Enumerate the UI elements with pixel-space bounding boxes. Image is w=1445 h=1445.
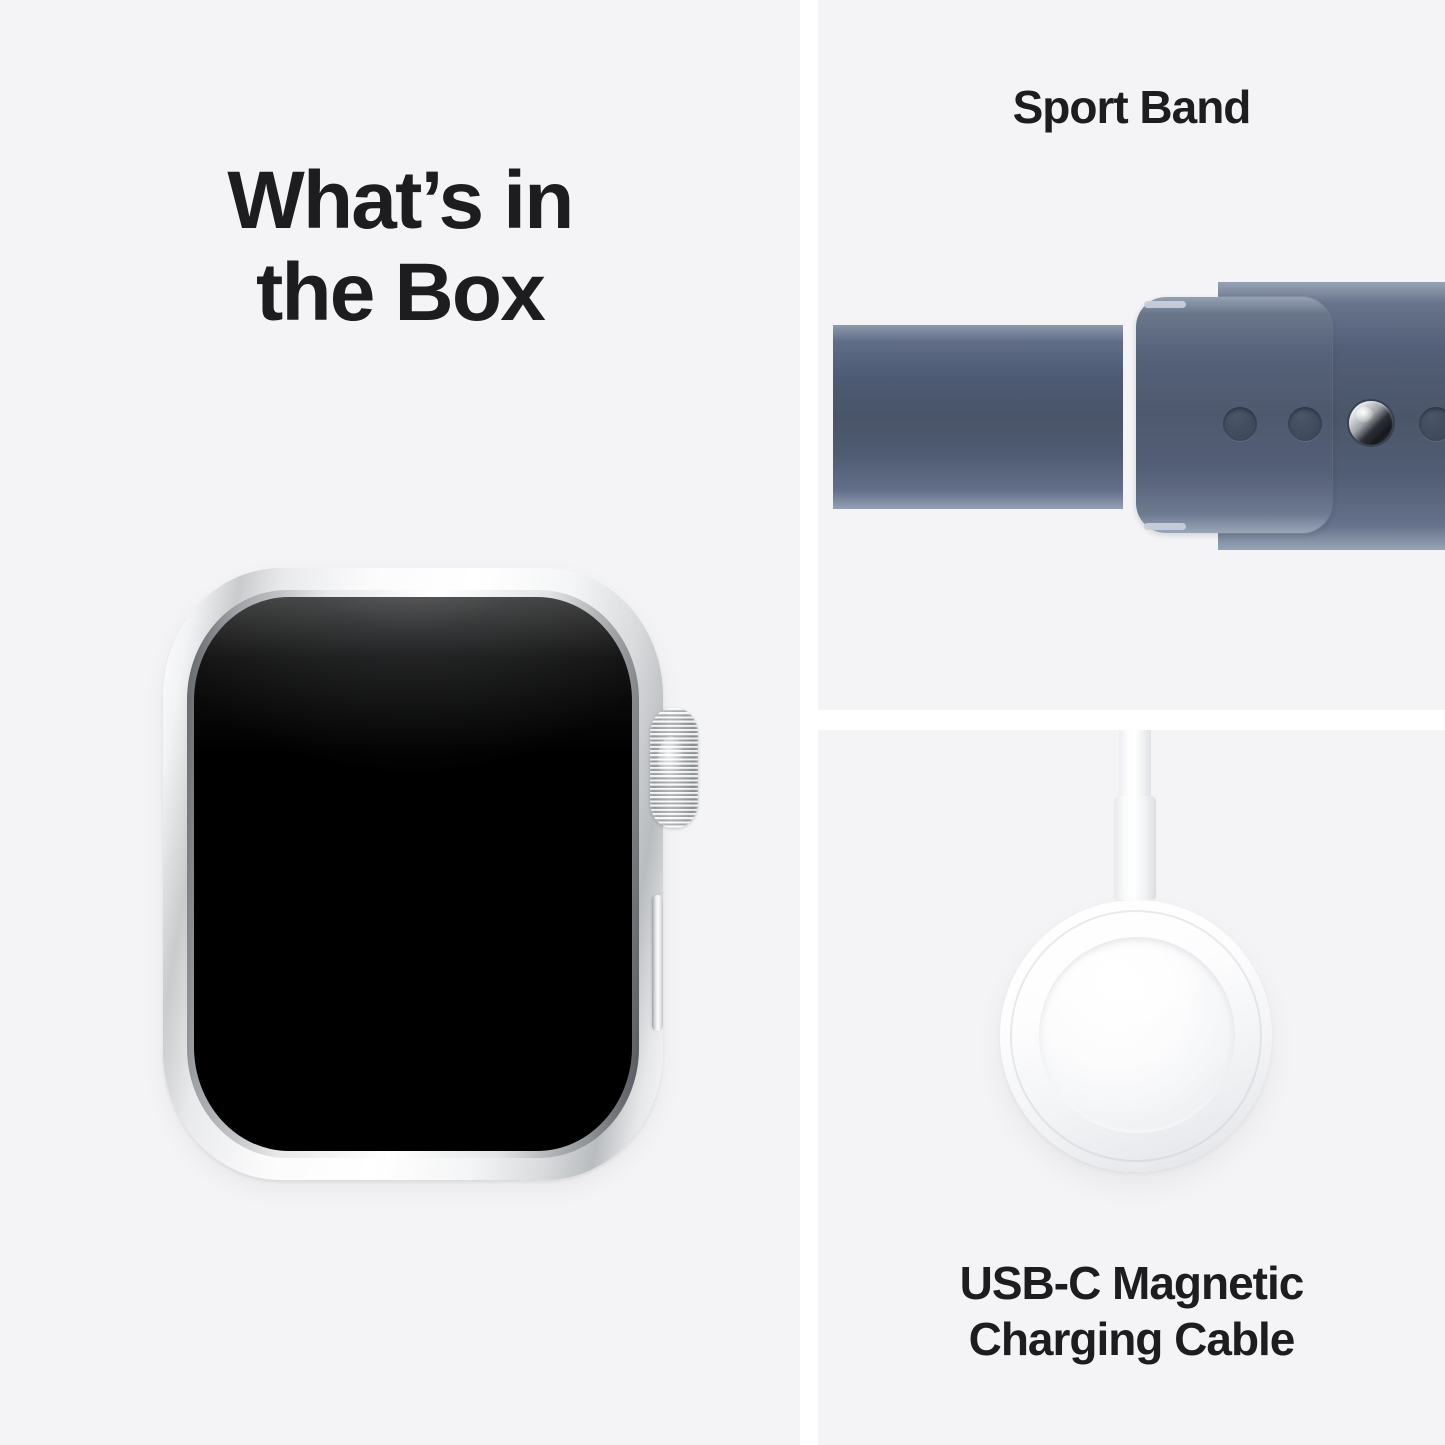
charging-cable-caption-line-1: USB-C Magnetic (818, 1255, 1445, 1311)
panel-whats-in-the-box: What’s in the Box (0, 0, 800, 1445)
band-strap-left (833, 325, 1123, 509)
charging-cable-caption-line-2: Charging Cable (818, 1311, 1445, 1367)
sport-band-image (818, 0, 1445, 710)
charger-puck-surface (1039, 937, 1235, 1133)
watch-display (194, 597, 632, 1151)
whats-in-the-box-figure: What’s in the Box Sport Band (0, 0, 1445, 1445)
band-keeper-slit-bottom (1144, 523, 1186, 530)
band-keeper-slit-top (1144, 301, 1186, 308)
band-pin (1349, 401, 1393, 445)
side-button (652, 895, 663, 1031)
charging-cable-caption: USB-C Magnetic Charging Cable (818, 1255, 1445, 1367)
panel-charging-cable: USB-C Magnetic Charging Cable (818, 730, 1445, 1445)
band-hole (1288, 407, 1322, 441)
band-hole (1419, 407, 1445, 441)
band-hole (1223, 407, 1257, 441)
digital-crown (650, 708, 698, 828)
apple-watch-image (163, 568, 693, 1180)
page-title: What’s in the Box (100, 155, 700, 339)
cable-strain-relief (1114, 796, 1156, 900)
page-title-line-1: What’s in (100, 155, 700, 247)
cable-cord (1119, 730, 1151, 798)
page-title-line-2: the Box (100, 247, 700, 339)
panel-sport-band: Sport Band (818, 0, 1445, 710)
